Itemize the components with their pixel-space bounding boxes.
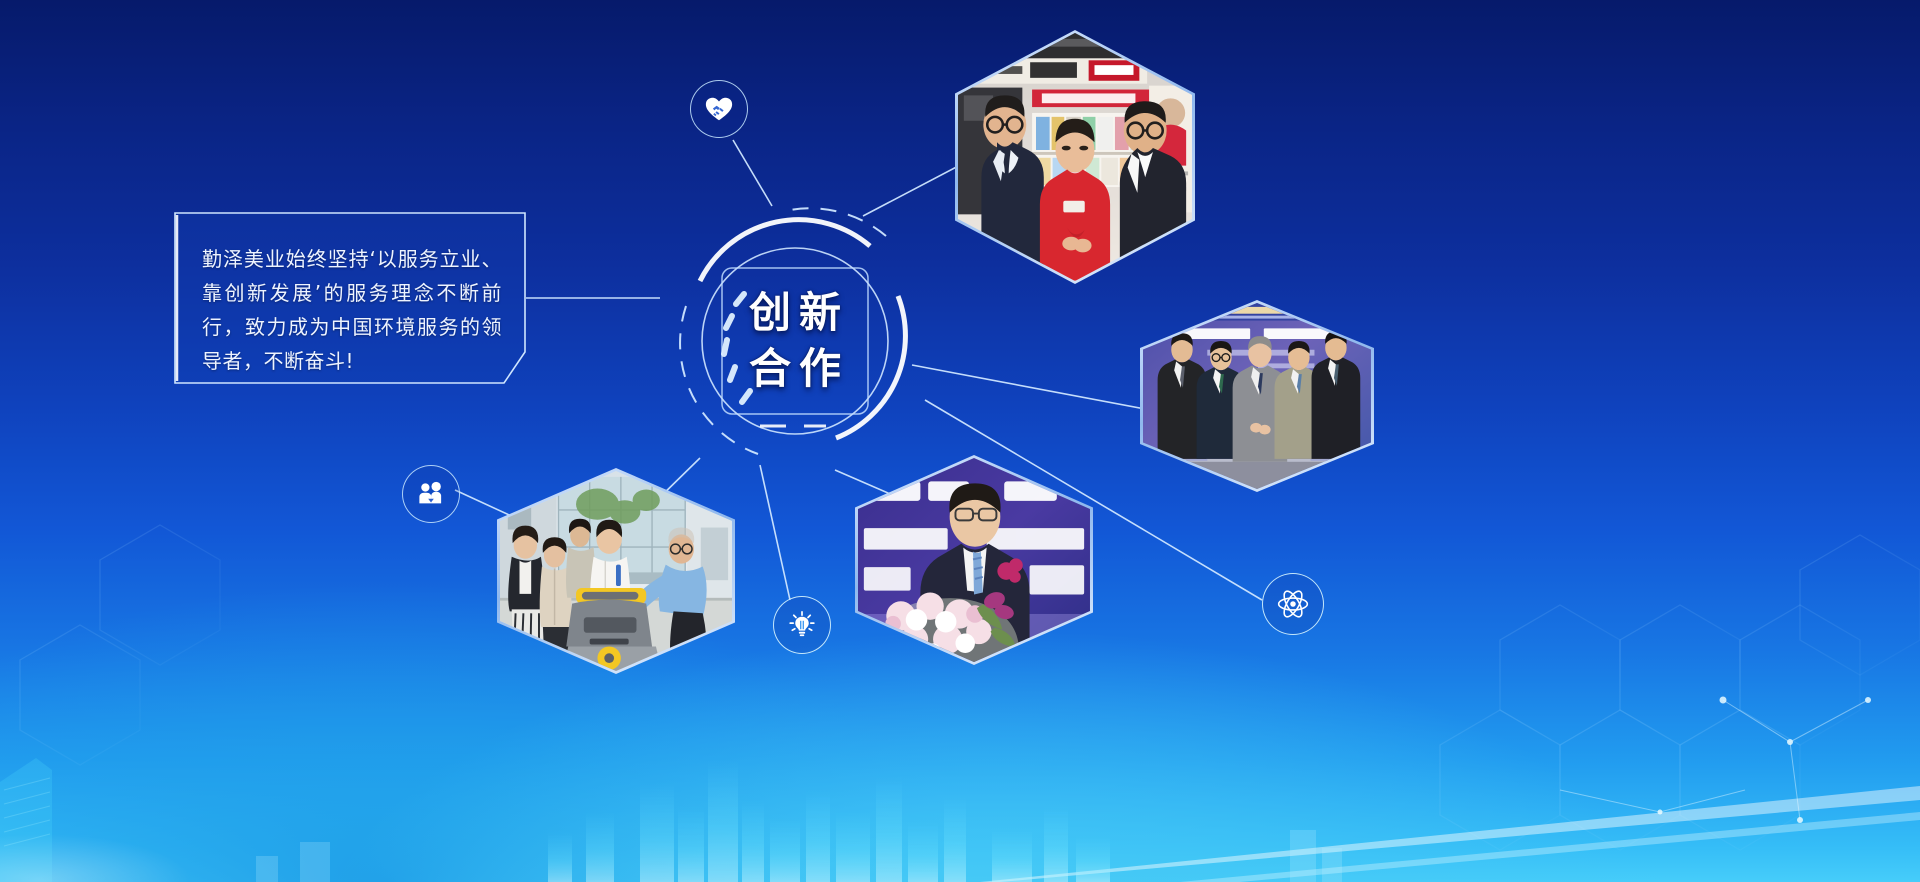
lightbulb-icon-bubble[interactable]	[773, 596, 831, 654]
hub-label: 创新 合作	[640, 186, 950, 496]
photo-image	[1143, 303, 1371, 489]
photo-conference-five-men[interactable]	[1140, 300, 1374, 492]
atom-icon-bubble[interactable]	[1262, 573, 1324, 635]
photo-image	[858, 458, 1090, 662]
hub-label-line1: 创新	[741, 288, 849, 338]
photo-cleaning-machine-demo[interactable]	[497, 468, 735, 674]
handshake-heart-icon	[704, 94, 734, 124]
lightbulb-icon	[787, 610, 817, 640]
photo-image	[958, 33, 1192, 281]
mission-statement-text: 勤泽美业始终坚持‘以服务立业、靠创新发展’的服务理念不断前行，致力成为中国环境服…	[202, 242, 502, 378]
center-hub: 创新 合作	[640, 186, 950, 496]
atom-icon	[1276, 587, 1310, 621]
team-people-icon-bubble[interactable]	[402, 465, 460, 523]
photo-image	[500, 471, 732, 671]
handshake-heart-icon-bubble[interactable]	[690, 80, 748, 138]
mission-statement-callout: 勤泽美业始终坚持‘以服务立业、靠创新发展’的服务理念不断前行，致力成为中国环境服…	[174, 212, 526, 384]
photo-bookstore-group[interactable]	[955, 30, 1195, 284]
photo-speaker-podium[interactable]	[855, 455, 1093, 665]
team-people-icon	[416, 479, 446, 509]
hub-label-line2: 合作	[741, 344, 849, 394]
banner-stage: 勤泽美业始终坚持‘以服务立业、靠创新发展’的服务理念不断前行，致力成为中国环境服…	[0, 0, 1920, 882]
